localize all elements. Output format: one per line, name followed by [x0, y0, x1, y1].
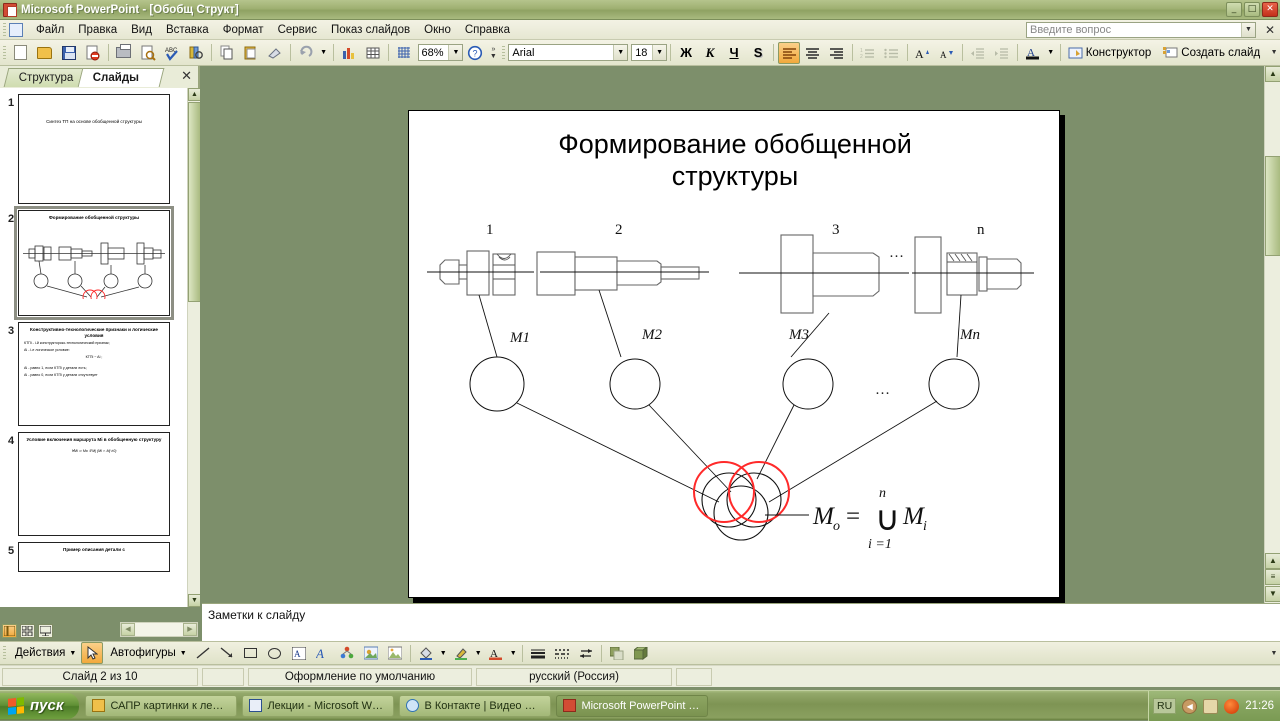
chevron-down-icon[interactable]: ▼: [448, 45, 462, 60]
route-circle-m3: [783, 359, 833, 409]
status-spacer-2: [716, 668, 1278, 686]
numbered-list-icon[interactable]: 12: [857, 42, 879, 64]
taskbar-item-label: Лекции - Microsoft W…: [267, 700, 383, 712]
thumbnail-line: Ai - равно 0, если КТПi у детали отсутст…: [19, 371, 169, 378]
slide-thumbnail-list[interactable]: 1 Синтез ТП на основе обобщенной структу…: [0, 88, 200, 607]
system-tray: RU ◀ 21:26: [1148, 691, 1280, 721]
font-name-input[interactable]: Arial ▼: [508, 44, 628, 61]
menu-item-window[interactable]: Окно: [417, 22, 458, 38]
set-label-mn: Mn: [959, 327, 980, 343]
status-language: русский (Россия): [476, 668, 672, 686]
thumbnail-line: КТПi - i-й конструкторско-технологически…: [19, 339, 169, 346]
chevron-down-icon[interactable]: ▼: [1241, 23, 1255, 37]
menu-bar: Файл Правка Вид Вставка Формат Сервис По…: [0, 20, 1280, 40]
thumbnail-title: Синтез ТП на основе обобщенной структуры: [19, 95, 169, 125]
formula-upper: n: [879, 486, 886, 501]
line-color-icon[interactable]: [450, 642, 472, 664]
window-title: Microsoft PowerPoint - [Обобщ Структ]: [21, 4, 239, 16]
part-label-1: 1: [486, 222, 494, 238]
actions-label: Действия: [13, 647, 69, 659]
underline-button[interactable]: Ч: [723, 42, 745, 64]
thumbnail-title: Условие включения маршрута Mi в обобщенн…: [19, 433, 169, 443]
scroll-down-button[interactable]: ▼: [1265, 586, 1280, 602]
taskbar-item-browser[interactable]: В Контакте | Видео …: [399, 695, 551, 717]
slide-thumbnail-5[interactable]: Пример описания детали с: [18, 542, 170, 572]
language-indicator[interactable]: RU: [1153, 698, 1176, 714]
close-pane-button[interactable]: ✕: [181, 69, 192, 84]
thumbnail-title: Конструктивно-технологические признаки и…: [19, 323, 169, 339]
toolbar-grip-formatting[interactable]: [502, 46, 505, 60]
font-color-icon[interactable]: A: [1022, 42, 1044, 64]
font-color-dropdown-icon[interactable]: ▼: [1046, 42, 1056, 64]
grid-icon[interactable]: [393, 42, 415, 64]
slide-number: 4: [4, 432, 18, 447]
status-spacer-1: [202, 668, 244, 686]
slide-number: 1: [4, 94, 18, 109]
status-design: Оформление по умолчанию: [248, 668, 472, 686]
thumbnail-line: Ai - равно 1, если КТПi у детали есть;: [19, 360, 169, 371]
pane-tabs: Структура Слайды ✕: [0, 66, 198, 88]
toolbar-separator: [108, 44, 109, 61]
thumbnail-diagram: [19, 221, 169, 299]
spellcheck-icon[interactable]: ABC: [161, 42, 183, 64]
formula-lower: i =1: [868, 537, 892, 552]
list-item[interactable]: 4 Условие включения маршрута Mi в обобще…: [0, 426, 200, 536]
drawing-toolbar-overflow[interactable]: ▼: [1268, 650, 1280, 657]
diagram-icon[interactable]: [336, 642, 358, 664]
taskbar-item-word[interactable]: Лекции - Microsoft W…: [242, 695, 394, 717]
toolbar-separator: [211, 44, 212, 61]
print-icon[interactable]: [113, 42, 135, 64]
scrollbar-thumb[interactable]: [188, 102, 200, 302]
slideshow-view-button[interactable]: [38, 624, 53, 638]
powerpoint-icon: [3, 3, 17, 17]
toolbar-separator: [388, 44, 389, 61]
routes-ellipsis: …: [875, 382, 890, 398]
slides-pane: Структура Слайды ✕ 1 Синтез ТП на основе…: [0, 66, 200, 607]
document-icon: [9, 23, 23, 37]
svg-text:A: A: [940, 50, 947, 60]
paste-icon[interactable]: [240, 42, 262, 64]
scroll-up-button[interactable]: ▲: [188, 88, 200, 101]
status-spelling-indicator: [676, 668, 712, 686]
notes-pane[interactable]: Заметки к слайду: [202, 603, 1280, 641]
taskbar: пуск САПР картинки к ле… Лекции - Micros…: [0, 690, 1280, 720]
toolbar-separator: [333, 44, 334, 61]
chevron-down-icon[interactable]: ▼: [613, 45, 627, 60]
actions-menu-button[interactable]: Действия ▼: [9, 643, 80, 663]
thumbnail-line: КТПi ~ Ai ;: [19, 353, 169, 360]
formula-union: ∪: [875, 501, 900, 538]
font-size-value: 18: [635, 47, 647, 59]
new-document-icon[interactable]: [10, 42, 32, 64]
taskbar-item-label: В Контакте | Видео …: [424, 700, 535, 712]
bold-button[interactable]: Ж: [675, 42, 697, 64]
increase-font-size-icon[interactable]: A: [912, 42, 934, 64]
clock[interactable]: 21:26: [1245, 700, 1274, 712]
title-bar: Microsoft PowerPoint - [Обобщ Структ] _ …: [0, 0, 1280, 20]
previous-slide-button[interactable]: ▲: [1265, 553, 1280, 569]
powerpoint-icon: [563, 699, 576, 712]
slides-pane-scrollbar[interactable]: ▲ ▼: [187, 88, 200, 607]
toolbar-separator: [1060, 44, 1061, 61]
shadow-style-icon[interactable]: [606, 642, 628, 664]
tab-slides-label: Слайды: [93, 69, 139, 88]
research-icon[interactable]: [185, 42, 207, 64]
status-slide-counter: Слайд 2 из 10: [2, 668, 198, 686]
new-slide-button[interactable]: Создать слайд: [1159, 43, 1268, 63]
tab-outline-label: Структура: [19, 69, 74, 88]
align-left-button[interactable]: [778, 42, 800, 64]
thumbnail-title: Пример описания детали с: [19, 543, 169, 553]
toolbar-overflow-button[interactable]: »▼: [487, 46, 499, 60]
slide-vertical-scrollbar[interactable]: ▲ ▲ ≡ ▼: [1264, 66, 1280, 603]
align-center-button[interactable]: [802, 42, 824, 64]
slide-thumbnail-3[interactable]: Конструктивно-технологические признаки и…: [18, 322, 170, 426]
thumbnail-title: Формирование обобщенной структуры: [19, 211, 169, 221]
maximize-button[interactable]: □: [1244, 2, 1260, 17]
tab-slides[interactable]: Слайды: [78, 68, 165, 87]
save-icon[interactable]: [58, 42, 80, 64]
normal-view-button[interactable]: [2, 624, 17, 638]
decrease-font-size-icon[interactable]: A: [936, 42, 958, 64]
folder-icon: [92, 699, 105, 712]
scroll-up-button[interactable]: ▲: [1265, 66, 1280, 82]
windows-logo-icon: [8, 697, 24, 715]
undo-dropdown-icon[interactable]: ▼: [319, 42, 329, 64]
print-preview-icon[interactable]: [137, 42, 159, 64]
font-size-input[interactable]: 18 ▼: [631, 44, 667, 61]
toolbar-separator: [773, 44, 774, 61]
font-color-dropdown-icon[interactable]: ▼: [509, 642, 518, 664]
route-circle-m1: [470, 357, 524, 411]
scrollbar-track[interactable]: [135, 623, 183, 636]
current-slide[interactable]: Формирование обобщенной структуры 1 2 3 …: [408, 110, 1060, 598]
zoom-input[interactable]: 68% ▼: [418, 44, 464, 61]
menu-item-view[interactable]: Вид: [124, 22, 159, 38]
slide-title-line2: структуры: [439, 161, 1031, 193]
slide-sorter-view-button[interactable]: [20, 624, 35, 638]
design-label: Конструктор: [1084, 47, 1156, 59]
part-label-2: 2: [615, 222, 623, 238]
set-label-m1: M1: [509, 330, 530, 346]
scroll-right-button[interactable]: ▶: [183, 623, 197, 636]
line-color-dropdown-icon[interactable]: ▼: [474, 642, 483, 664]
toolbar-separator: [410, 645, 411, 662]
toolbar-overflow-button-2[interactable]: ▼: [1268, 49, 1280, 56]
menu-item-edit[interactable]: Правка: [71, 22, 124, 38]
svg-text:A: A: [915, 47, 924, 60]
thumbnail-formula: ∀Mi ⊂ Mo ∃ Mj (Mi ∩ Mj ≠0): [19, 443, 169, 454]
fill-color-icon[interactable]: [415, 642, 437, 664]
font-color-icon[interactable]: A: [485, 642, 507, 664]
chevron-down-icon[interactable]: ▼: [652, 45, 666, 60]
zoom-value: 68%: [422, 47, 444, 59]
ask-a-question-input[interactable]: Введите вопрос ▼: [1026, 22, 1256, 38]
start-button[interactable]: пуск: [0, 693, 79, 719]
close-button[interactable]: ✕: [1262, 2, 1278, 17]
font-name-value: Arial: [512, 47, 534, 59]
toolbar-grip-drawing[interactable]: [3, 646, 6, 660]
close-document-button[interactable]: ✕: [1265, 23, 1275, 37]
status-bar: Слайд 2 из 10 Оформление по умолчанию ру…: [0, 665, 1280, 687]
slide-title[interactable]: Формирование обобщенной структуры: [439, 129, 1031, 193]
italic-button[interactable]: К: [699, 42, 721, 64]
menu-item-help[interactable]: Справка: [458, 22, 517, 38]
generalized-structure-diagram: 1 2 3 n: [409, 217, 1061, 597]
menu-grip[interactable]: [3, 23, 6, 37]
menu-item-slideshow[interactable]: Показ слайдов: [324, 22, 417, 38]
slide-thumbnail-4[interactable]: Условие включения маршрута Mi в обобщенн…: [18, 432, 170, 536]
text-shadow-button[interactable]: S: [747, 42, 769, 64]
slide-number: 2: [4, 210, 18, 225]
slide-editing-area[interactable]: Формирование обобщенной структуры 1 2 3 …: [202, 66, 1280, 603]
format-painter-icon[interactable]: [264, 42, 286, 64]
open-folder-icon[interactable]: [34, 42, 56, 64]
undo-icon[interactable]: [295, 42, 317, 64]
toolbar-separator: [852, 44, 853, 61]
taskbar-item-label: Microsoft PowerPoint …: [581, 700, 699, 712]
notes-placeholder: Заметки к слайду: [202, 604, 1280, 622]
wordart-icon[interactable]: A: [312, 642, 334, 664]
minimize-button[interactable]: _: [1226, 2, 1242, 17]
ie-icon: [406, 699, 419, 712]
select-arrow-icon[interactable]: [81, 642, 103, 664]
dash-style-icon[interactable]: [551, 642, 573, 664]
opera-icon[interactable]: [1224, 699, 1239, 714]
view-buttons: [2, 622, 122, 640]
textbox-icon[interactable]: A: [288, 642, 310, 664]
copy-icon[interactable]: [216, 42, 238, 64]
oval-icon[interactable]: [264, 642, 286, 664]
menu-item-format[interactable]: Формат: [216, 22, 271, 38]
formula-rhs-sub: i: [923, 519, 927, 534]
new-slide-label: Создать слайд: [1179, 47, 1264, 59]
toolbar-separator: [290, 44, 291, 61]
menu-item-insert[interactable]: Вставка: [159, 22, 216, 38]
set-label-m3: M3: [788, 327, 809, 343]
decrease-indent-icon[interactable]: [967, 42, 989, 64]
thumbnail-line: Ai - i-е логическое условие:: [19, 346, 169, 353]
scroll-down-button[interactable]: ▼: [188, 594, 200, 607]
part-label-3: 3: [832, 222, 840, 238]
toolbar-separator: [522, 645, 523, 662]
slide-thumbnail-2[interactable]: Формирование обобщенной структуры: [18, 210, 170, 316]
toolbar-grip-standard[interactable]: [3, 46, 6, 60]
3d-style-icon[interactable]: [630, 642, 652, 664]
toolbar-separator: [907, 44, 908, 61]
toolbar-separator: [1017, 44, 1018, 61]
drawing-toolbar: Действия ▼ Автофигуры ▼ A A: [0, 641, 1280, 665]
window-controls: _ □ ✕: [1226, 2, 1278, 17]
toolbar-separator: [670, 44, 671, 61]
fill-color-dropdown-icon[interactable]: ▼: [439, 642, 448, 664]
taskbar-item-label: САПР картинки к ле…: [110, 700, 223, 712]
show-hidden-icon[interactable]: ◀: [1182, 699, 1197, 714]
menu-item-tools[interactable]: Сервис: [271, 22, 324, 38]
autoshapes-menu-button[interactable]: Автофигуры ▼: [104, 643, 190, 663]
align-right-button[interactable]: [826, 42, 848, 64]
chart-icon[interactable]: [338, 42, 360, 64]
menu-item-file[interactable]: Файл: [29, 22, 71, 38]
slide-number: 3: [4, 322, 18, 337]
part-label-n: n: [977, 222, 985, 238]
next-slide-button[interactable]: ≡: [1265, 569, 1280, 585]
parts-ellipsis: …: [889, 245, 904, 261]
scrollbar-thumb[interactable]: [1265, 156, 1280, 256]
list-item[interactable]: 5 Пример описания детали с: [0, 536, 200, 572]
network-icon[interactable]: [1203, 699, 1218, 714]
slide-number: 5: [4, 542, 18, 557]
clipart-icon[interactable]: [360, 642, 382, 664]
toolbar-separator: [962, 44, 963, 61]
line-icon[interactable]: [192, 642, 214, 664]
toolbar-separator: [601, 645, 602, 662]
rectangle-icon[interactable]: [240, 642, 262, 664]
arrow-style-icon[interactable]: [575, 642, 597, 664]
svg-text:2: 2: [860, 54, 863, 59]
design-button[interactable]: Конструктор: [1064, 43, 1160, 63]
list-item[interactable]: 1 Синтез ТП на основе обобщенной структу…: [0, 88, 200, 204]
start-label: пуск: [30, 697, 63, 714]
picture-icon[interactable]: [384, 642, 406, 664]
route-circle-m2: [610, 359, 660, 409]
arrow-icon[interactable]: [216, 642, 238, 664]
formula-equals: =: [846, 503, 860, 530]
set-label-m2: M2: [641, 327, 662, 343]
chevron-down-icon: ▼: [180, 650, 187, 657]
help-icon[interactable]: ?: [464, 42, 486, 64]
svg-text:A: A: [294, 649, 301, 659]
taskbar-item-powerpoint[interactable]: Microsoft PowerPoint …: [556, 695, 708, 717]
list-item[interactable]: 2 Формирование обобщенной структуры: [0, 204, 200, 316]
word-icon: [249, 699, 262, 712]
svg-text:A: A: [316, 646, 324, 660]
slide-thumbnail-1[interactable]: Синтез ТП на основе обобщенной структуры: [18, 94, 170, 204]
formula-lhs-sub: o: [833, 519, 840, 534]
formula-lhs: M: [812, 503, 835, 530]
standard-toolbar: ABC ▼ 68% ▼: [0, 40, 1280, 66]
svg-text:?: ?: [473, 48, 478, 58]
table-icon[interactable]: [362, 42, 384, 64]
slide-title-line1: Формирование обобщенной: [439, 129, 1031, 161]
permission-icon[interactable]: [82, 42, 104, 64]
scroll-left-button[interactable]: ◀: [121, 623, 135, 636]
list-item[interactable]: 3 Конструктивно-технологические признаки…: [0, 316, 200, 426]
chevron-down-icon: ▼: [69, 650, 76, 657]
outline-horizontal-scrollbar[interactable]: ◀ ▶: [120, 622, 198, 637]
formula-rhs: M: [902, 503, 925, 530]
increase-indent-icon[interactable]: [991, 42, 1013, 64]
ask-placeholder: Введите вопрос: [1027, 24, 1111, 36]
taskbar-item-explorer[interactable]: САПР картинки к ле…: [85, 695, 237, 717]
line-style-icon[interactable]: [527, 642, 549, 664]
autoshapes-label: Автофигуры: [108, 647, 179, 659]
bulleted-list-icon[interactable]: [881, 42, 903, 64]
